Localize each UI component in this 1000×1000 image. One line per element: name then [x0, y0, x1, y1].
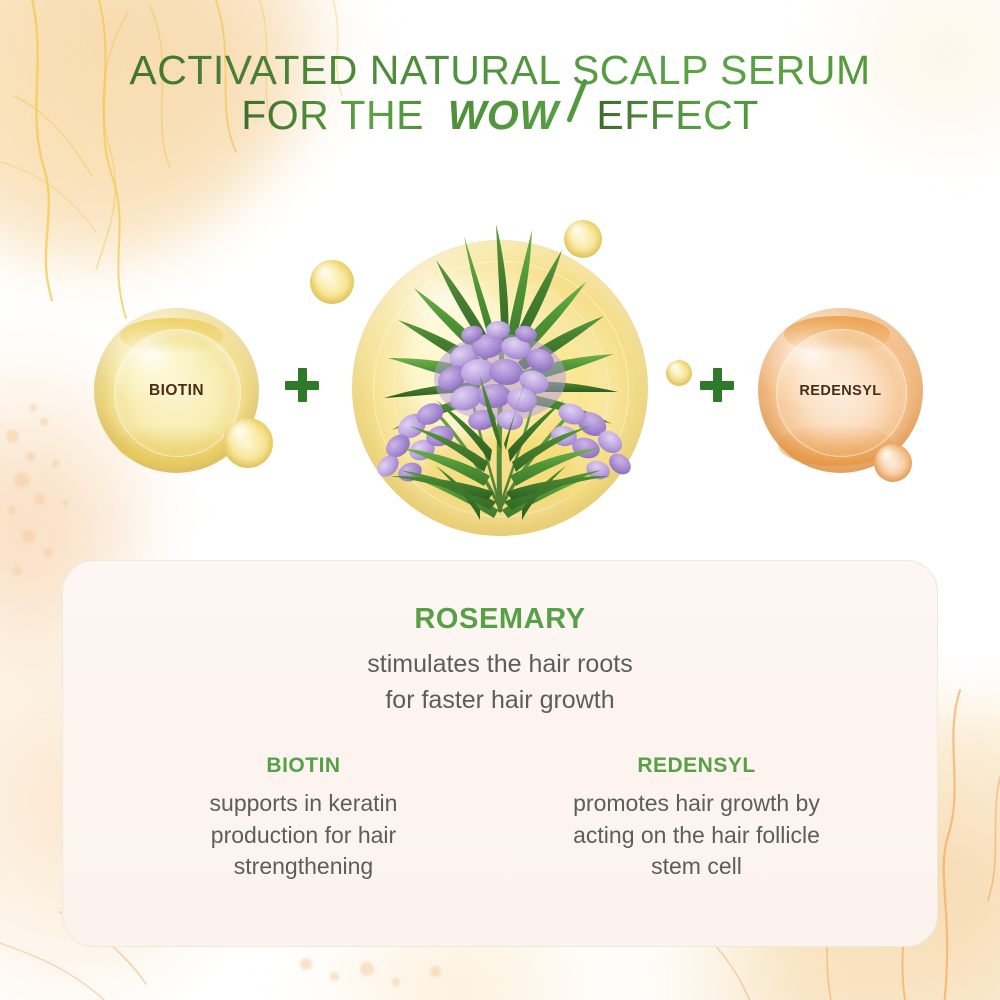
headline: ACTIVATED NATURAL SCALP SERUM FOR THE WO…	[0, 48, 1000, 138]
rosemary-svg	[330, 210, 670, 540]
headline-line-1: ACTIVATED NATURAL SCALP SERUM	[0, 48, 1000, 93]
biotin-label: BIOTIN	[94, 382, 259, 400]
rosemary-plant-illustration	[330, 210, 670, 540]
redensyl-label: REDENSYL	[758, 383, 923, 399]
benefit-column-biotin: BIOTIN supports in keratin production fo…	[107, 754, 500, 883]
infographic-canvas: ACTIVATED NATURAL SCALP SERUM FOR THE WO…	[0, 0, 1000, 1000]
headline-line-2: FOR THE WOW EFFECT	[0, 93, 1000, 138]
biotin-column-heading: BIOTIN	[121, 754, 486, 778]
redensyl-column-description: promotes hair growth by acting on the ha…	[514, 788, 879, 883]
oil-bubble-left-upper	[310, 260, 354, 304]
rosemary-description-line-2: for faster hair growth	[63, 683, 937, 719]
plus-sign-right-icon	[700, 368, 734, 402]
rosemary-block: ROSEMARY stimulates the hair roots for f…	[63, 561, 937, 718]
biotin-column-line-1: supports in keratin	[121, 788, 486, 820]
biotin-column-description: supports in keratin production for hair …	[121, 788, 486, 883]
plus-sign-left-icon	[285, 368, 319, 402]
redensyl-column-line-1: promotes hair growth by	[514, 788, 879, 820]
benefit-column-redensyl: REDENSYL promotes hair growth by acting …	[500, 754, 893, 883]
headline-line-2-after: EFFECT	[596, 92, 758, 138]
redensyl-column-line-3: stem cell	[514, 851, 879, 883]
benefit-columns: BIOTIN supports in keratin production fo…	[63, 754, 937, 883]
rosemary-heading: ROSEMARY	[63, 605, 937, 634]
oil-bubble-top-right	[564, 220, 602, 258]
oil-bubble-biotin-small	[223, 418, 273, 468]
ingredient-row: BIOTIN	[0, 200, 1000, 540]
oil-bubble-redensyl-small	[874, 444, 912, 482]
biotin-column-line-2: production for hair	[121, 820, 486, 852]
rosemary-description-line-1: stimulates the hair roots	[63, 647, 937, 683]
redensyl-column-heading: REDENSYL	[514, 754, 879, 778]
headline-line-2-before: FOR THE	[241, 92, 424, 138]
redensyl-column-line-2: acting on the hair follicle	[514, 820, 879, 852]
benefits-card: ROSEMARY stimulates the hair roots for f…	[62, 560, 938, 947]
oil-bubble-right-small	[666, 360, 692, 386]
headline-accent-wow: WOW	[448, 92, 573, 138]
biotin-column-line-3: strengthening	[121, 851, 486, 883]
rosemary-description: stimulates the hair roots for faster hai…	[63, 647, 937, 718]
